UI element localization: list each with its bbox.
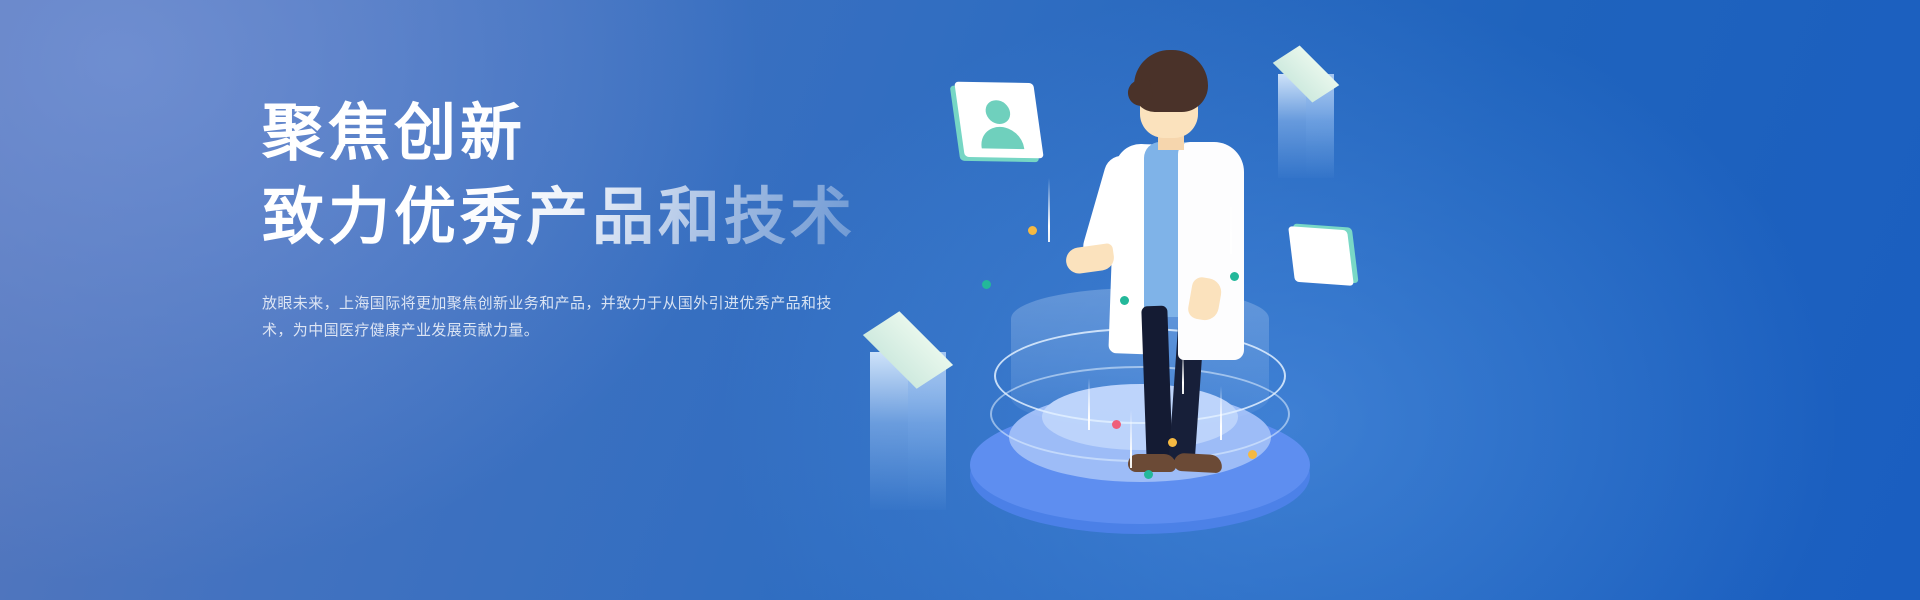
lab-coat-right bbox=[1178, 142, 1244, 360]
doctor-figure bbox=[1070, 50, 1310, 450]
floating-user-card bbox=[954, 82, 1044, 159]
particle-dot bbox=[1112, 420, 1121, 429]
hero-banner: 聚焦创新 致力优秀产品和技术 放眼未来，上海国际将更加聚焦创新业务和产品，并致力… bbox=[0, 0, 1920, 600]
particle-dot bbox=[1230, 272, 1239, 281]
user-avatar-body-icon bbox=[979, 127, 1025, 150]
particle-dot bbox=[982, 280, 991, 289]
light-streak bbox=[1130, 410, 1132, 468]
headline-line-1: 聚焦创新 bbox=[262, 96, 902, 172]
headline-line-2: 致力优秀产品和技术 bbox=[262, 180, 902, 256]
particle-dot bbox=[1144, 470, 1153, 479]
particle-dot bbox=[1168, 438, 1177, 447]
banner-illustration bbox=[930, 0, 1730, 600]
card-face bbox=[954, 82, 1044, 159]
light-streak bbox=[1230, 196, 1232, 254]
user-avatar-icon bbox=[984, 100, 1012, 124]
hair bbox=[1134, 50, 1208, 112]
light-streak bbox=[1088, 378, 1090, 430]
light-streak bbox=[1182, 348, 1184, 394]
particle-dot bbox=[1120, 296, 1129, 305]
light-streak bbox=[1048, 178, 1050, 242]
shoe-left bbox=[1128, 454, 1176, 472]
banner-subtitle: 放眼未来，上海国际将更加聚焦创新业务和产品，并致力于从国外引进优秀产品和技术，为… bbox=[262, 290, 852, 344]
particle-dot bbox=[1248, 450, 1257, 459]
light-streak bbox=[1220, 386, 1222, 440]
shoe-right bbox=[1174, 453, 1223, 473]
pointing-hand-icon bbox=[1064, 243, 1115, 275]
particle-dot bbox=[1028, 226, 1037, 235]
banner-text-block: 聚焦创新 致力优秀产品和技术 放眼未来，上海国际将更加聚焦创新业务和产品，并致力… bbox=[262, 96, 902, 344]
